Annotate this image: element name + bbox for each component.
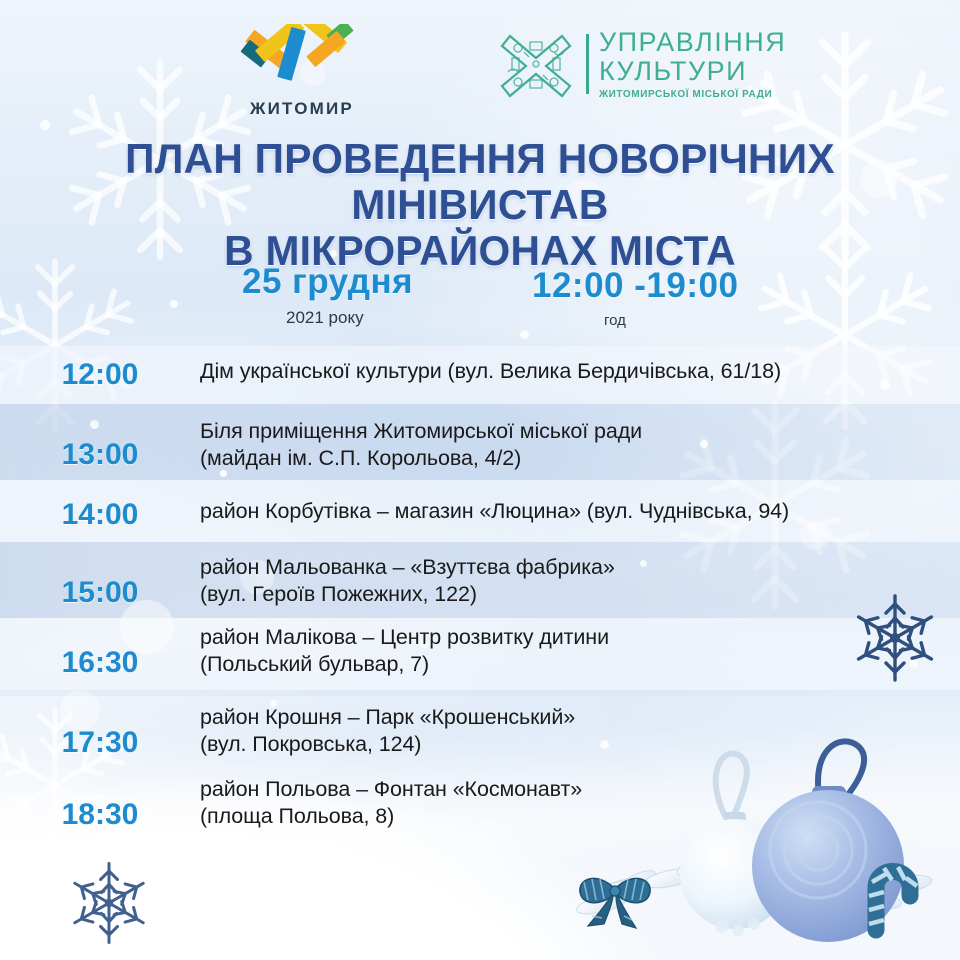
schedule-row[interactable]: 17:30 район Крошня – Парк «Крошенський» … bbox=[0, 704, 960, 760]
culture-logo-line2: КУЛЬТУРИ bbox=[599, 58, 786, 85]
schedule-location-line: район Польова – Фонтан «Космонавт» bbox=[200, 776, 942, 803]
culture-emblem-icon bbox=[496, 28, 576, 100]
schedule-time: 18:30 bbox=[0, 776, 200, 832]
schedule-time: 15:00 bbox=[0, 554, 200, 610]
culture-logo-line1: УПРАВЛІННЯ bbox=[599, 29, 786, 56]
schedule-location-line: Біля приміщення Житомирської міської рад… bbox=[200, 418, 942, 445]
schedule-time: 14:00 bbox=[0, 498, 200, 532]
schedule-location: район Малікова – Центр розвитку дитини (… bbox=[200, 624, 960, 678]
schedule-location: район Польова – Фонтан «Космонавт» (площ… bbox=[200, 776, 960, 830]
schedule-location-line: (площа Польова, 8) bbox=[200, 803, 942, 830]
schedule-location-line: район Крошня – Парк «Крошенський» bbox=[200, 704, 942, 731]
event-time-unit: год bbox=[604, 312, 738, 329]
schedule-row[interactable]: 13:00 Біля приміщення Житомирської міськ… bbox=[0, 418, 960, 472]
culture-logo-line3: ЖИТОМИРСЬКОЇ МІСЬКОЇ РАДИ bbox=[599, 90, 786, 100]
schedule-time: 17:30 bbox=[0, 704, 200, 760]
event-time-range: 12:00 -19:00 год bbox=[532, 266, 738, 329]
logo-divider bbox=[586, 34, 589, 94]
event-date: 25 грудня 2021 року bbox=[242, 262, 413, 328]
title-line-1: ПЛАН ПРОВЕДЕННЯ НОВОРІЧНИХ МІНІВИСТАВ bbox=[125, 135, 835, 228]
schedule-location-line: район Корбутівка – магазин «Люцина» (вул… bbox=[200, 498, 942, 525]
schedule-location-line: (вул. Покровська, 124) bbox=[200, 731, 942, 758]
schedule-row[interactable]: 18:30 район Польова – Фонтан «Космонавт»… bbox=[0, 776, 960, 832]
schedule-row[interactable]: 16:30 район Малікова – Центр розвитку ди… bbox=[0, 624, 960, 680]
event-year-value: 2021 року bbox=[286, 308, 413, 328]
poster-canvas: ЖИТОМИР УПРАВЛІННЯ КУ bbox=[0, 0, 960, 960]
schedule-location-line: (Польський бульвар, 7) bbox=[200, 651, 942, 678]
page-title: ПЛАН ПРОВЕДЕННЯ НОВОРІЧНИХ МІНІВИСТАВ В … bbox=[14, 136, 945, 274]
schedule-location-line: (майдан ім. С.П. Корольова, 4/2) bbox=[200, 445, 942, 472]
schedule-location-line: район Мальованка – «Взуттєва фабрика» bbox=[200, 554, 942, 581]
snow-hill bbox=[0, 730, 960, 960]
schedule-location: Дім української культури (вул. Велика Бе… bbox=[200, 358, 960, 385]
schedule-location: район Мальованка – «Взуттєва фабрика» (в… bbox=[200, 554, 960, 608]
schedule-row[interactable]: 12:00 Дім української культури (вул. Вел… bbox=[0, 358, 960, 392]
event-time-value: 12:00 -19:00 bbox=[532, 266, 738, 306]
culture-department-logo: УПРАВЛІННЯ КУЛЬТУРИ ЖИТОМИРСЬКОЇ МІСЬКОЇ… bbox=[496, 28, 786, 100]
zhytomyr-logo-icon bbox=[238, 24, 366, 88]
schedule-location-line: Дім української культури (вул. Велика Бе… bbox=[200, 358, 942, 385]
schedule-location: Біля приміщення Житомирської міської рад… bbox=[200, 418, 960, 472]
schedule-row[interactable]: 14:00 район Корбутівка – магазин «Люцина… bbox=[0, 498, 960, 532]
event-date-value: 25 грудня bbox=[242, 262, 413, 302]
event-datetime: 25 грудня 2021 року 12:00 -19:00 год bbox=[0, 262, 960, 342]
schedule-time: 12:00 bbox=[0, 358, 200, 392]
schedule-time: 13:00 bbox=[0, 418, 200, 472]
schedule-location: район Крошня – Парк «Крошенський» (вул. … bbox=[200, 704, 960, 758]
schedule-location: район Корбутівка – магазин «Люцина» (вул… bbox=[200, 498, 960, 525]
row-band bbox=[0, 690, 960, 696]
zhytomyr-city-logo: ЖИТОМИР bbox=[238, 24, 366, 120]
zhytomyr-wordmark: ЖИТОМИР bbox=[238, 99, 366, 119]
schedule-location-line: район Малікова – Центр розвитку дитини bbox=[200, 624, 942, 651]
schedule-time: 16:30 bbox=[0, 624, 200, 680]
header-logos: ЖИТОМИР УПРАВЛІННЯ КУ bbox=[0, 0, 960, 128]
schedule-row[interactable]: 15:00 район Мальованка – «Взуттєва фабри… bbox=[0, 554, 960, 610]
culture-logo-text: УПРАВЛІННЯ КУЛЬТУРИ ЖИТОМИРСЬКОЇ МІСЬКОЇ… bbox=[599, 29, 786, 100]
schedule-location-line: (вул. Героїв Пожежних, 122) bbox=[200, 581, 942, 608]
